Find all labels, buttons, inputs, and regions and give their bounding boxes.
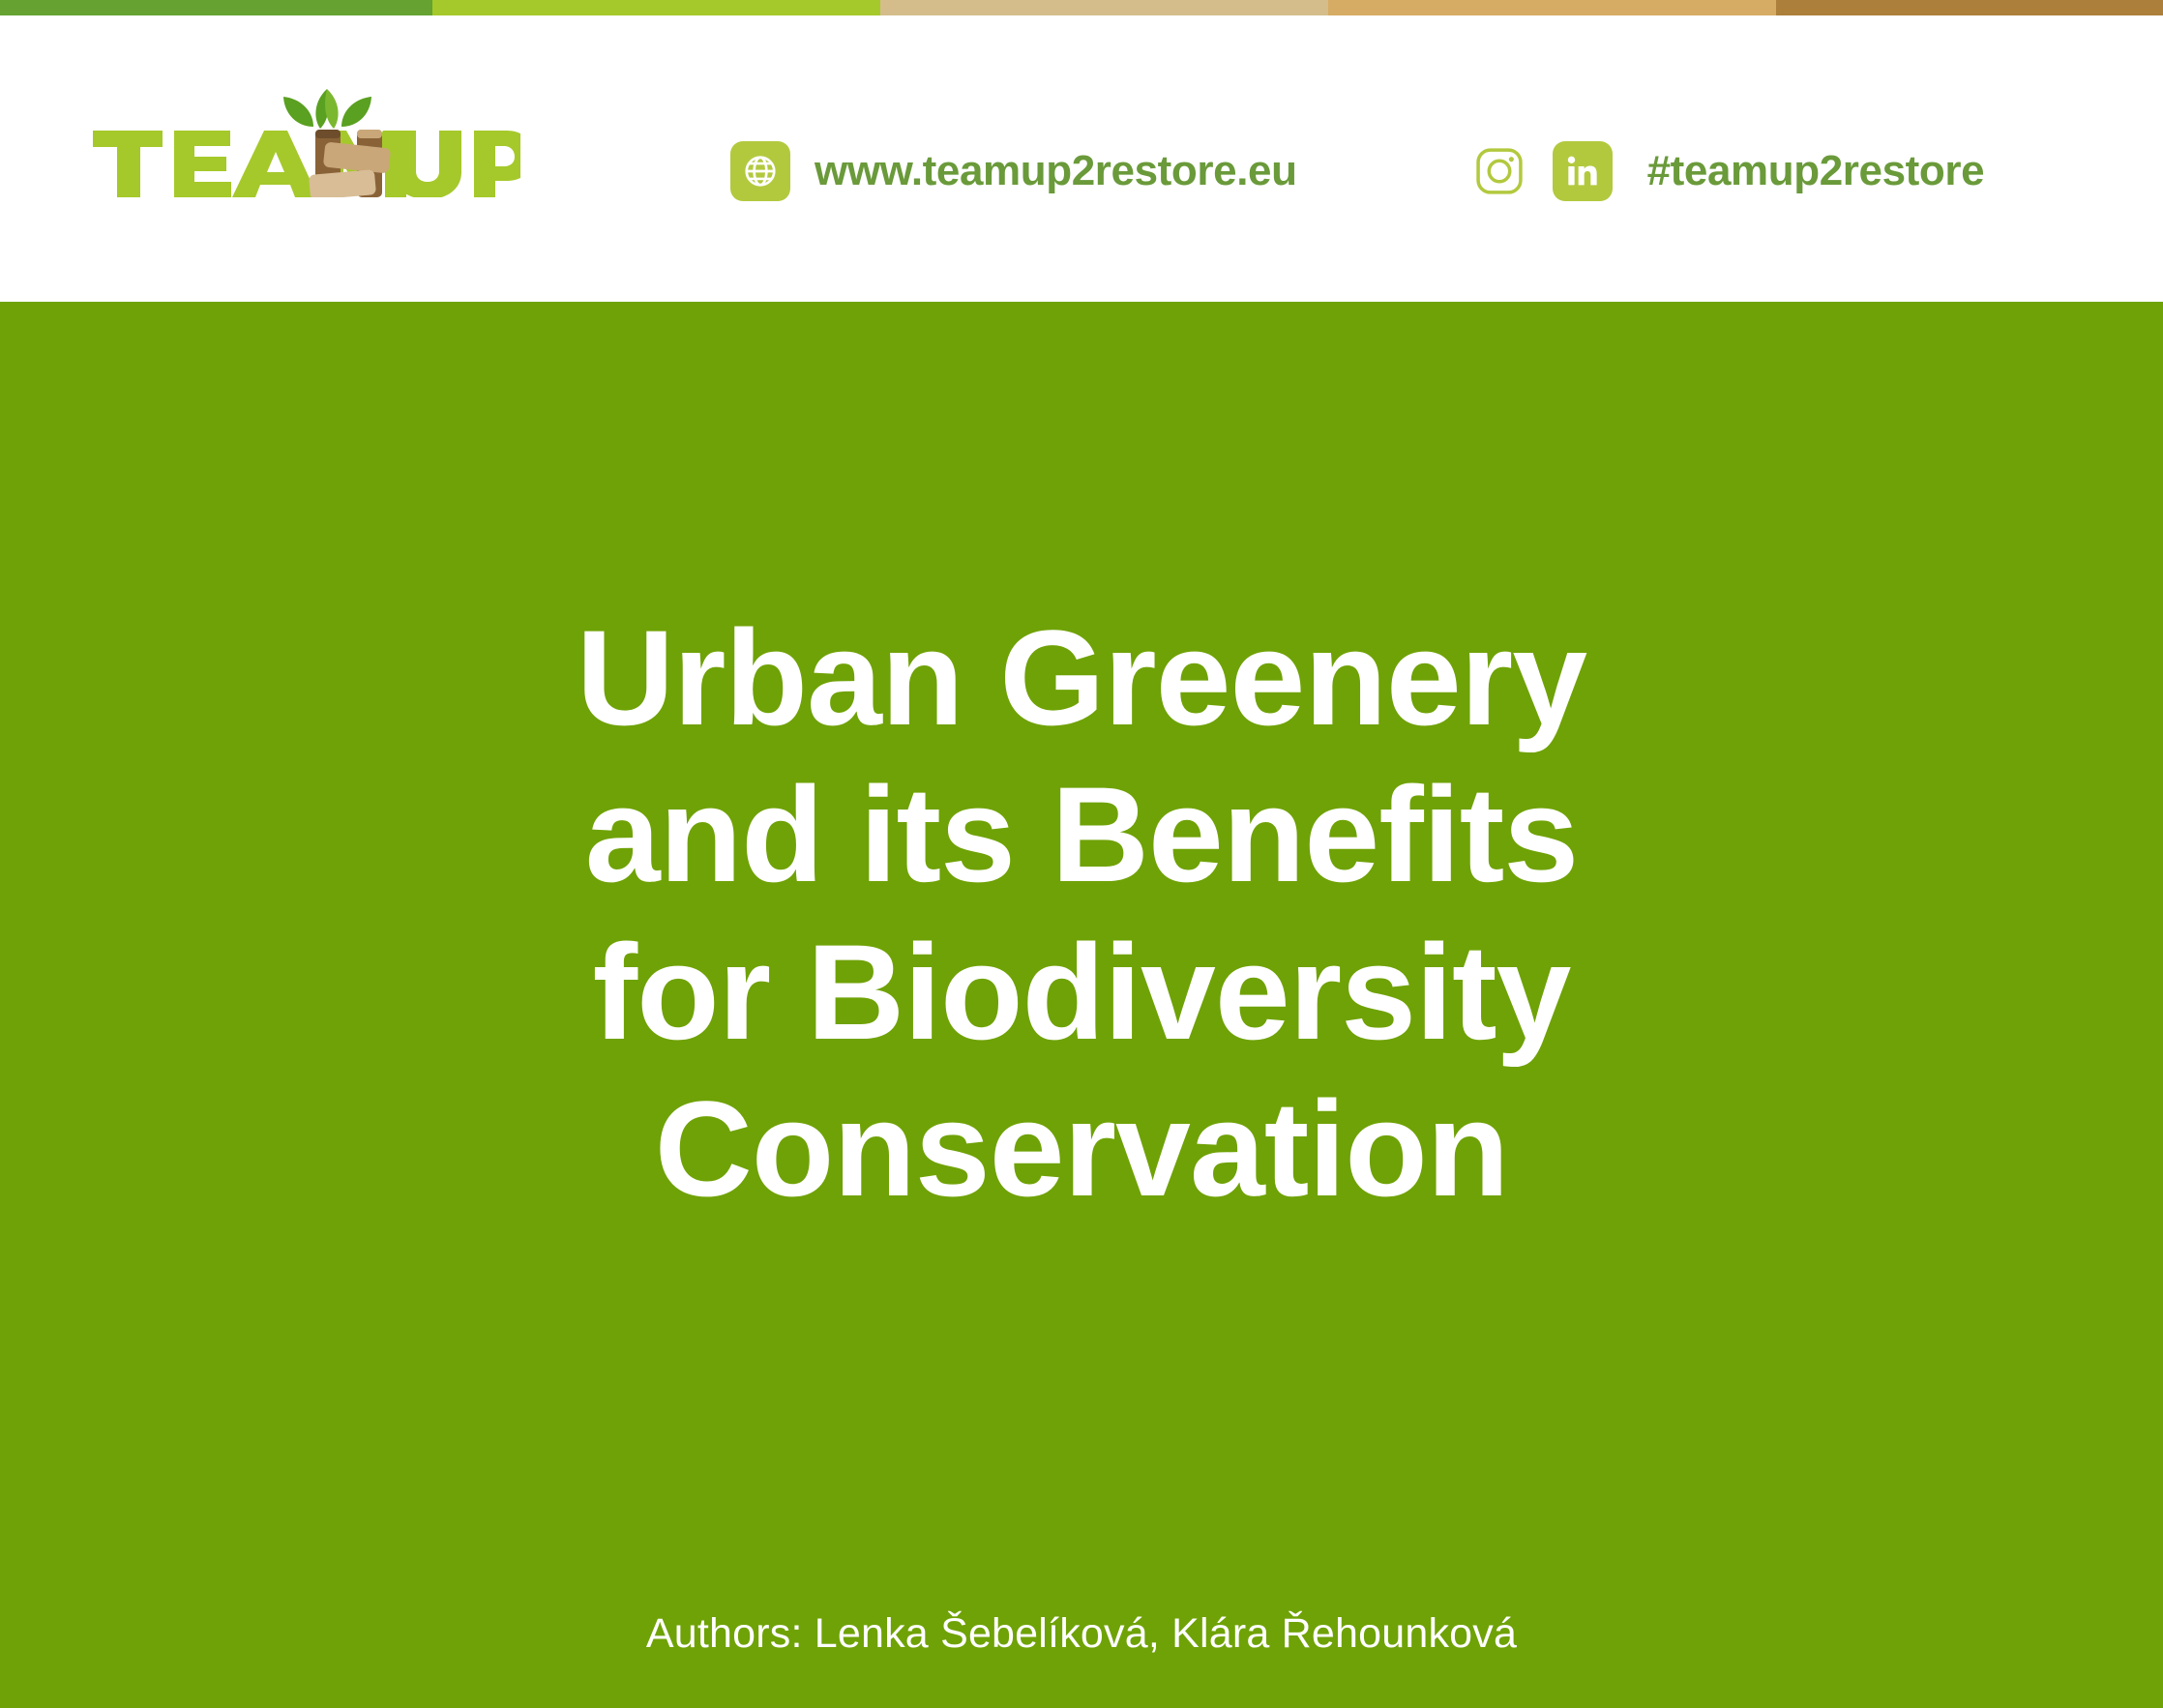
globe-icon	[730, 141, 790, 201]
website-url-label: www.teamup2restore.eu	[815, 147, 1297, 195]
header-contact-row: www.teamup2restore.eu	[730, 141, 1984, 201]
linkedin-icon[interactable]	[1553, 141, 1613, 201]
topbar-segment-brown	[1776, 0, 2163, 15]
teamup-logo[interactable]	[85, 75, 520, 197]
social-hashtag-label: #teamup2restore	[1647, 147, 1985, 195]
topbar-segment-light-green	[432, 0, 880, 15]
authors-line: Authors: Lenka Šebelíková, Klára Řehounk…	[0, 1610, 2163, 1658]
social-group: #teamup2restore	[1469, 141, 1985, 201]
website-group[interactable]: www.teamup2restore.eu	[730, 141, 1297, 201]
title-line-3: for Biodiversity	[319, 914, 1844, 1071]
top-color-bar	[0, 0, 2163, 15]
presentation-slide: www.teamup2restore.eu	[0, 0, 2163, 1708]
title-line-4: Conservation	[319, 1071, 1844, 1227]
page-title: Urban Greenery and its Benefits for Biod…	[0, 600, 2163, 1228]
slide-body: Urban Greenery and its Benefits for Biod…	[0, 302, 2163, 1708]
title-line-2: and its Benefits	[319, 756, 1844, 913]
leaf-center-right-icon	[325, 89, 339, 129]
leaf-left-icon	[283, 97, 313, 127]
slide-header: www.teamup2restore.eu	[0, 15, 2163, 302]
title-line-1: Urban Greenery	[319, 600, 1844, 756]
logo-word-up	[394, 131, 520, 197]
leaf-right-icon	[341, 97, 371, 127]
topbar-segment-tan	[1328, 0, 1776, 15]
teamup-logo-svg	[85, 75, 520, 197]
topbar-segment-sand	[880, 0, 1328, 15]
topbar-segment-dark-green	[0, 0, 432, 15]
instagram-icon[interactable]	[1469, 141, 1529, 201]
